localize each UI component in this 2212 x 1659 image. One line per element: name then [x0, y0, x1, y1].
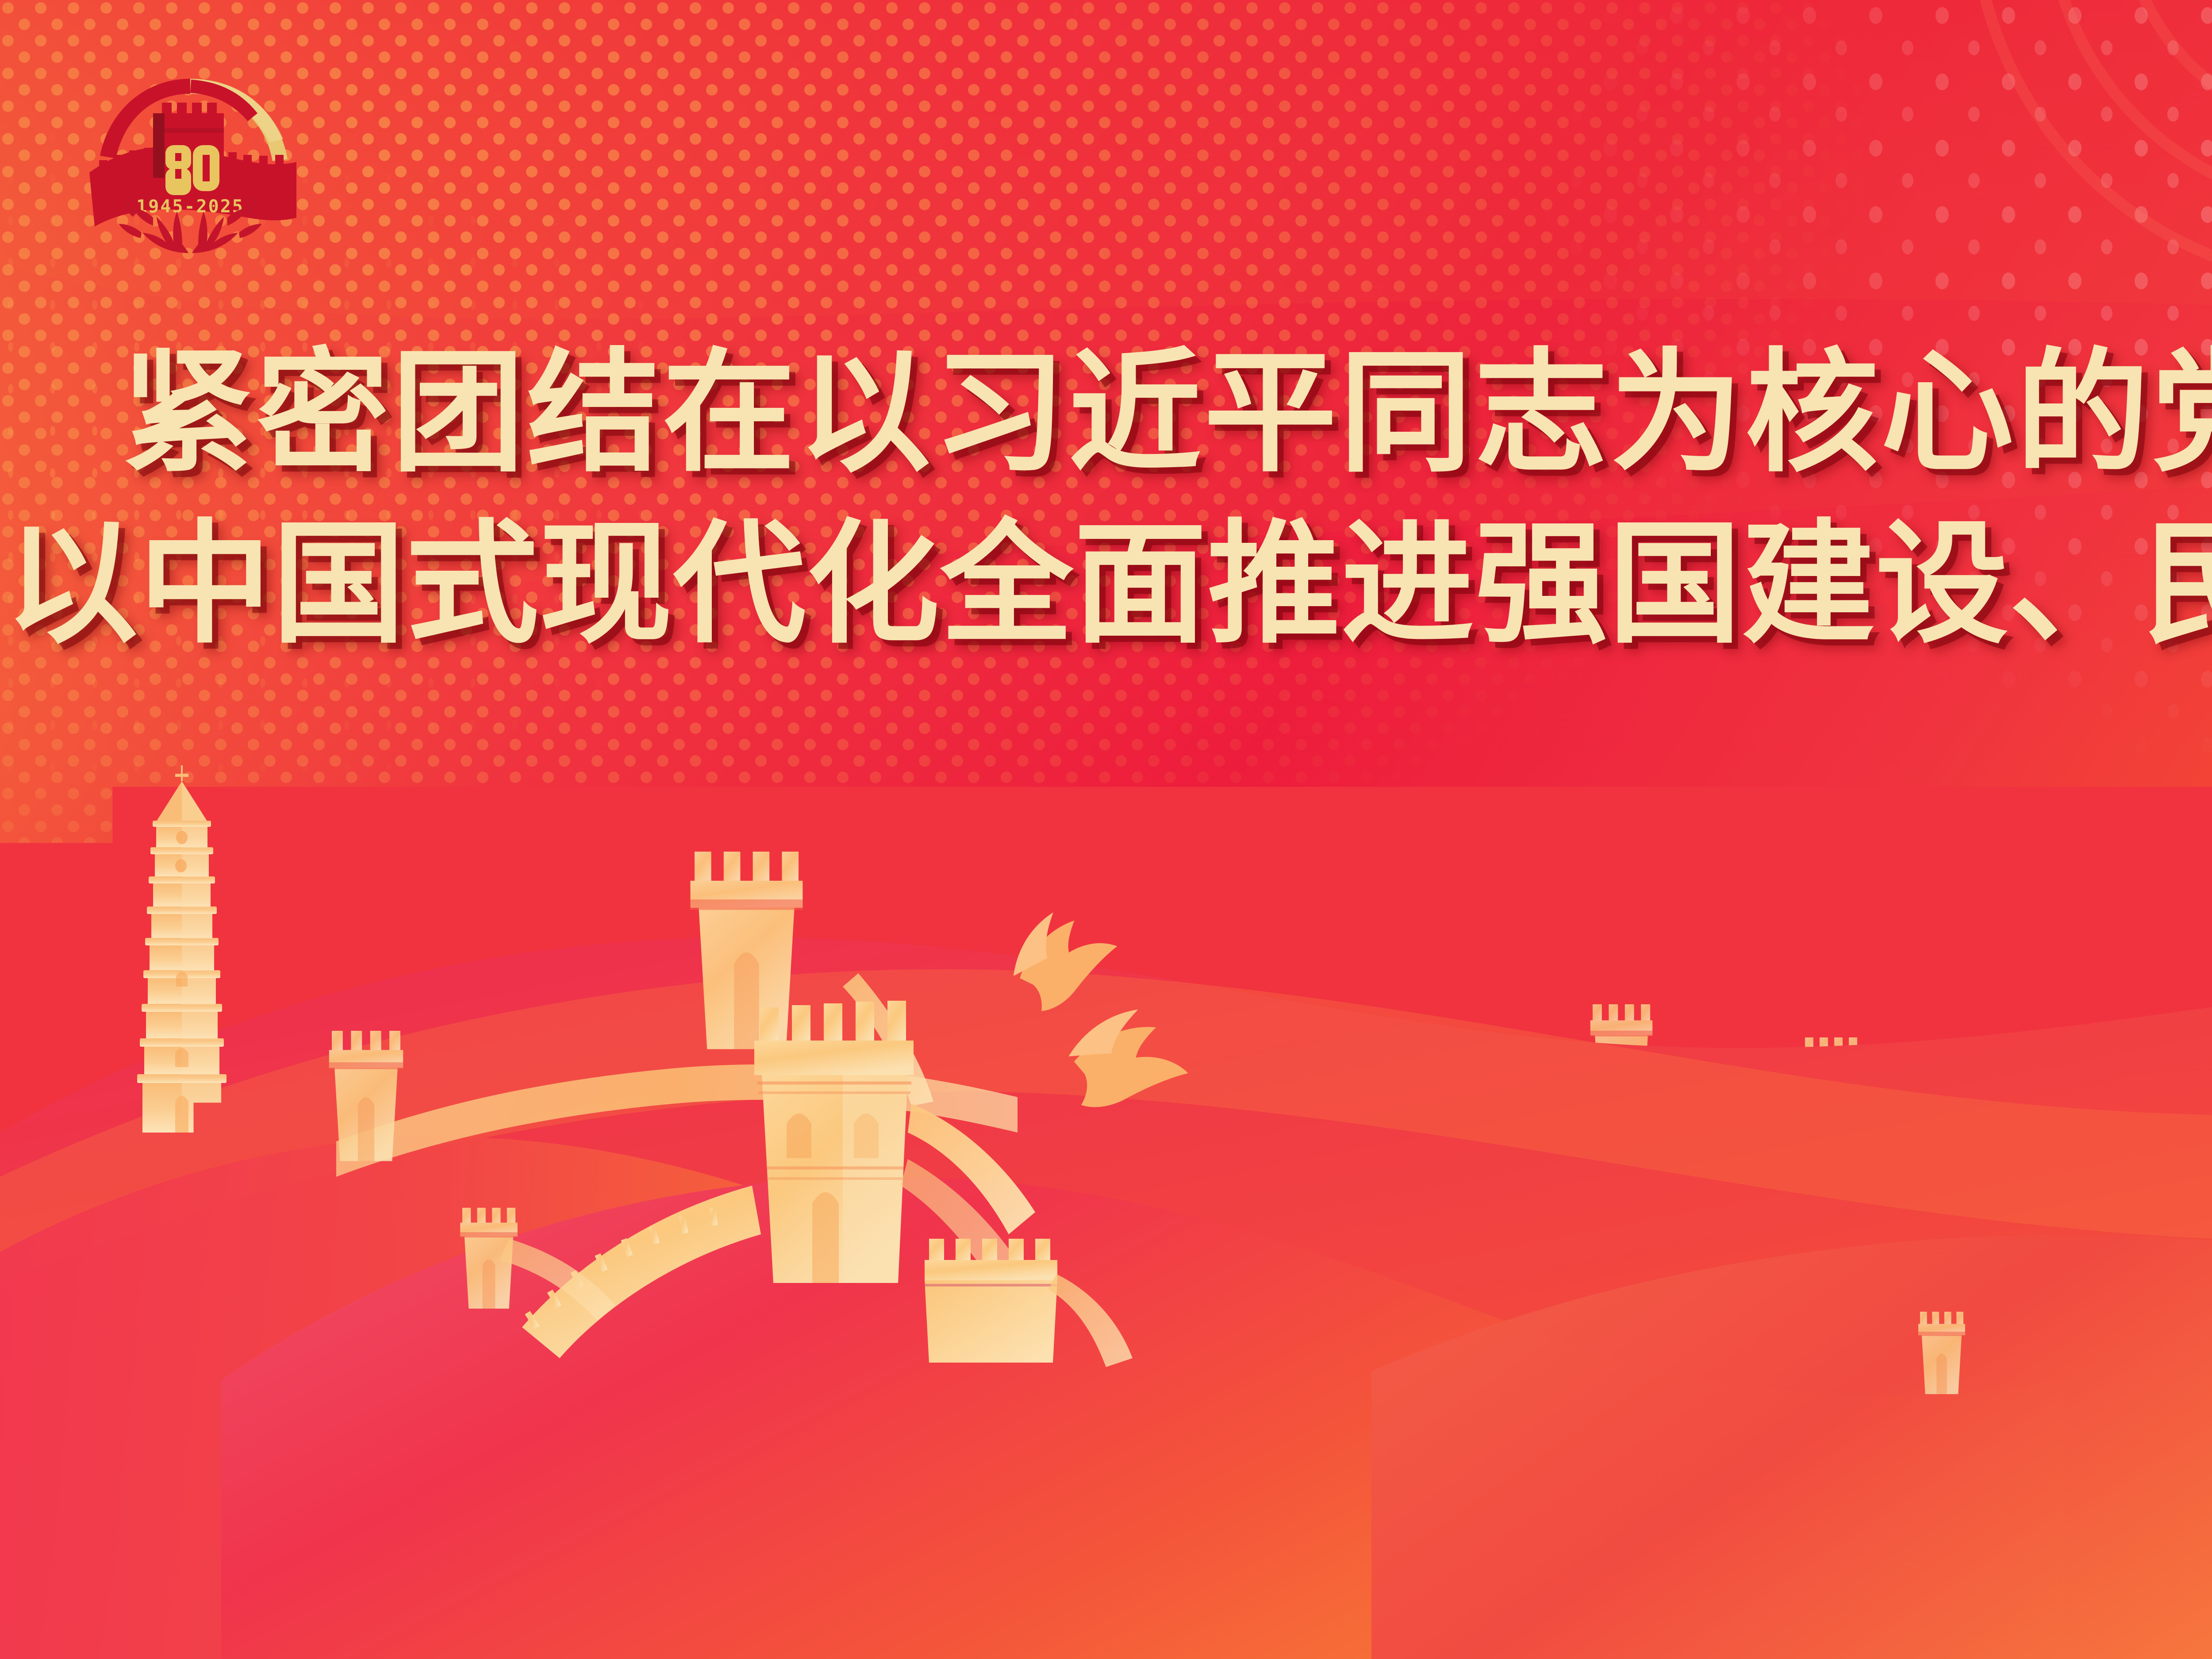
anniversary-emblem: 1945-2025 [66, 27, 314, 283]
emblem-years-text: 1945-2025 [136, 196, 244, 217]
wave-pattern-layer [0, 0, 2212, 1659]
banner-canvas: 1945-2025 紧密团结在以习近平同志为核心的党中央周围 以中国式现代化全面… [0, 0, 2212, 1659]
